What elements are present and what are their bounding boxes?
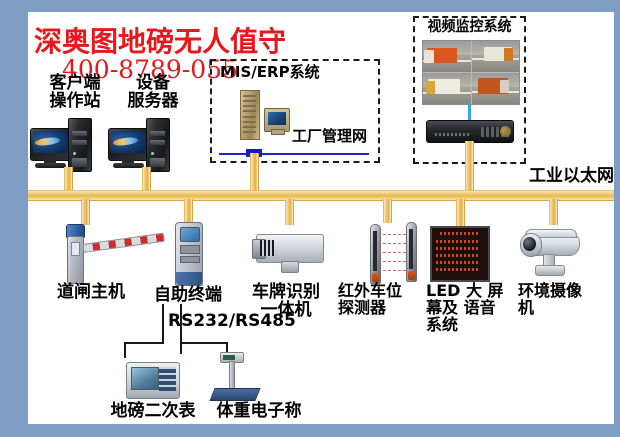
industrial-ethernet-bus [28, 190, 614, 201]
label-platform-scale: 体重电子称 [206, 402, 312, 420]
drop-line-lpr [285, 199, 294, 225]
ir-post-left-icon [370, 224, 381, 284]
truck-icon [427, 48, 457, 63]
diagram-backdrop: 深奥图地磅无人值守 400-8789-055 客户端 操作站 设备 服务器 [0, 0, 620, 437]
drop-line-ir [383, 199, 392, 223]
led-board-icon [430, 226, 490, 282]
serial-line-horizontal [124, 342, 164, 344]
serial-line-horizontal-2 [180, 342, 228, 344]
truck-icon [478, 78, 508, 94]
truck-icon [484, 47, 512, 61]
diagram-canvas: 深奥图地磅无人值守 400-8789-055 客户端 操作站 设备 服务器 [28, 12, 614, 424]
video-surveillance-title: 视频监控系统 [413, 20, 526, 35]
weighbridge-indicator [124, 360, 186, 402]
crt-monitor-icon [264, 108, 290, 132]
client-workstation [30, 116, 106, 172]
indicator-icon [126, 362, 180, 399]
page-title: 深奥图地磅无人值守 [34, 20, 286, 60]
drop-line-client [64, 167, 73, 191]
label-device-server: 设备 服务器 [106, 74, 200, 110]
dvr-uplink-line [468, 103, 471, 120]
lpr-camera [244, 228, 340, 284]
pc-tower-icon [68, 118, 92, 172]
platform-scale [200, 352, 270, 404]
cctv-tile [423, 73, 471, 104]
device-server [108, 116, 184, 172]
scale-platform-icon [209, 388, 260, 401]
infrared-detector [358, 222, 432, 288]
pc-tower-icon [146, 118, 170, 172]
label-led-display: LED 大 屏 幕及 语音 系统 [426, 283, 506, 334]
ir-beam [378, 270, 408, 271]
drop-line-led [456, 199, 465, 227]
label-environment-camera: 环境摄像 机 [518, 283, 602, 317]
server-rack-icon [240, 90, 260, 140]
bullet-camera-icon [522, 232, 580, 256]
label-barrier-gate: 道闸主机 [42, 283, 140, 301]
cctv-tile [472, 73, 520, 104]
truck-icon [428, 79, 460, 94]
serial-line-vertical-b [180, 304, 182, 354]
label-self-service-terminal: 自助终端 [141, 286, 235, 304]
self-service-terminal [161, 222, 219, 286]
gate-arm-icon [82, 233, 164, 253]
dvr-recorder-icon [426, 120, 514, 143]
box-camera-icon [256, 234, 324, 263]
serial-line-vertical-a [162, 304, 164, 344]
serial-leg-indicator [124, 342, 126, 358]
ir-beam [378, 234, 408, 235]
drop-line-kiosk [184, 199, 193, 223]
drop-line-envcam [549, 199, 558, 225]
industrial-ethernet-label: 工业以太网 [498, 167, 614, 185]
label-infrared-detector: 红外车位 探测器 [338, 283, 422, 317]
drop-line-mis [250, 153, 259, 191]
factory-network-label: 工厂管理网 [292, 129, 384, 145]
cctv-tile [472, 41, 520, 72]
serial-bus-label: RS232/RS485 [168, 312, 308, 330]
ir-beam [378, 243, 408, 244]
mis-network-line [219, 153, 369, 155]
label-weighbridge-indicator: 地磅二次表 [100, 402, 206, 420]
drop-line-server [142, 167, 151, 191]
drop-line-dvr [465, 141, 474, 191]
ir-beam [378, 252, 408, 253]
environment-camera [514, 224, 594, 284]
drop-line-gate [81, 199, 90, 225]
kiosk-icon [175, 222, 203, 286]
cctv-quad-view [422, 40, 520, 105]
barrier-gate [50, 224, 160, 286]
mis-erp-title: MIS/ERP系统 [220, 65, 360, 81]
gate-window-icon [71, 242, 80, 256]
cctv-tile [423, 41, 471, 72]
ir-beam [378, 261, 408, 262]
led-display [426, 226, 500, 284]
